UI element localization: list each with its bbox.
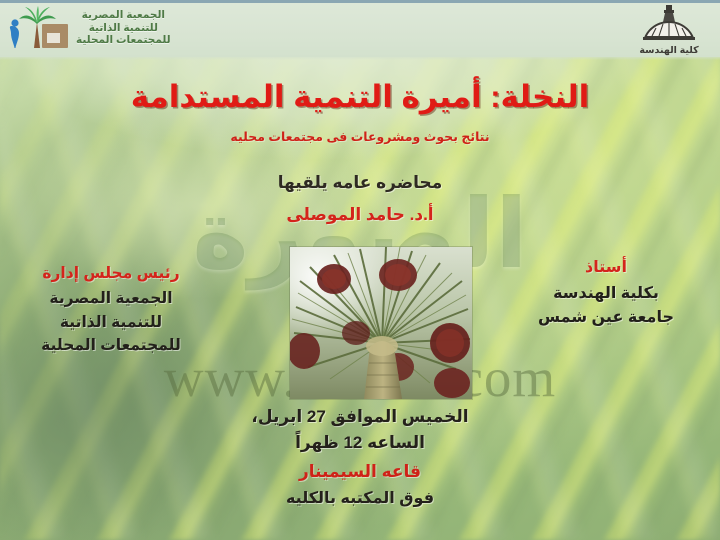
- affiliation-left: رئيس مجلس إدارة الجمعية المصرية للتنمية …: [18, 262, 204, 357]
- faculty-logo-caption: كلية الهندسة: [626, 45, 712, 56]
- schedule-block: الخميس الموافق 27 ابريل، الساعه 12 ظهراً…: [0, 404, 720, 512]
- affiliation-left-role: رئيس مجلس إدارة: [18, 262, 204, 285]
- affiliation-right: أستاذ بكلية الهندسة جامعة عين شمس: [506, 256, 706, 330]
- speaker-name: أ.د. حامد الموصلى: [0, 205, 720, 225]
- affiliation-left-line-2: للتنمية الذاتية: [18, 311, 204, 334]
- page-subtitle: نتائج بحوث ومشروعات فى مجتمعات محليه: [0, 129, 720, 144]
- top-rule: [0, 0, 720, 3]
- association-logo-line-2: للتنمية الذاتية: [76, 22, 171, 35]
- affiliation-right-role: أستاذ: [506, 256, 706, 280]
- association-logo-text: الجمعية المصرية للتنمية الذاتية للمجتمعا…: [76, 9, 171, 47]
- affiliation-right-line-1: بكلية الهندسة: [506, 282, 706, 306]
- cairo-university-dome-icon: [643, 4, 695, 44]
- date-palm-illustration: [290, 247, 472, 399]
- faculty-logo: كلية الهندسة: [626, 4, 712, 56]
- date-palm-photograph: [290, 247, 472, 399]
- affiliation-right-line-2: جامعة عين شمس: [506, 306, 706, 330]
- venue-detail: فوق المكتبه بالكليه: [0, 487, 720, 512]
- affiliation-left-line-3: للمجتمعات المحلية: [18, 334, 204, 357]
- venue-name: قاعه السيمينار: [0, 459, 720, 485]
- schedule-time: الساعه 12 ظهراً: [0, 430, 720, 456]
- lecture-intro-text: محاضره عامه يلقيها: [0, 173, 720, 193]
- association-logo: الجمعية المصرية للتنمية الذاتية للمجتمعا…: [6, 6, 171, 50]
- poster-canvas: الصورة www.alsbbc.com الجمعية المصرية لل…: [0, 0, 720, 540]
- association-logo-line-1: الجمعية المصرية: [76, 9, 171, 22]
- palm-tree-and-house-icon: [6, 6, 70, 50]
- schedule-date: الخميس الموافق 27 ابريل،: [0, 404, 720, 430]
- association-logo-line-3: للمجتمعات المحلية: [76, 34, 171, 47]
- page-title: النخلة: أميرة التنمية المستدامة: [0, 79, 720, 115]
- affiliation-left-line-1: الجمعية المصرية: [18, 287, 204, 310]
